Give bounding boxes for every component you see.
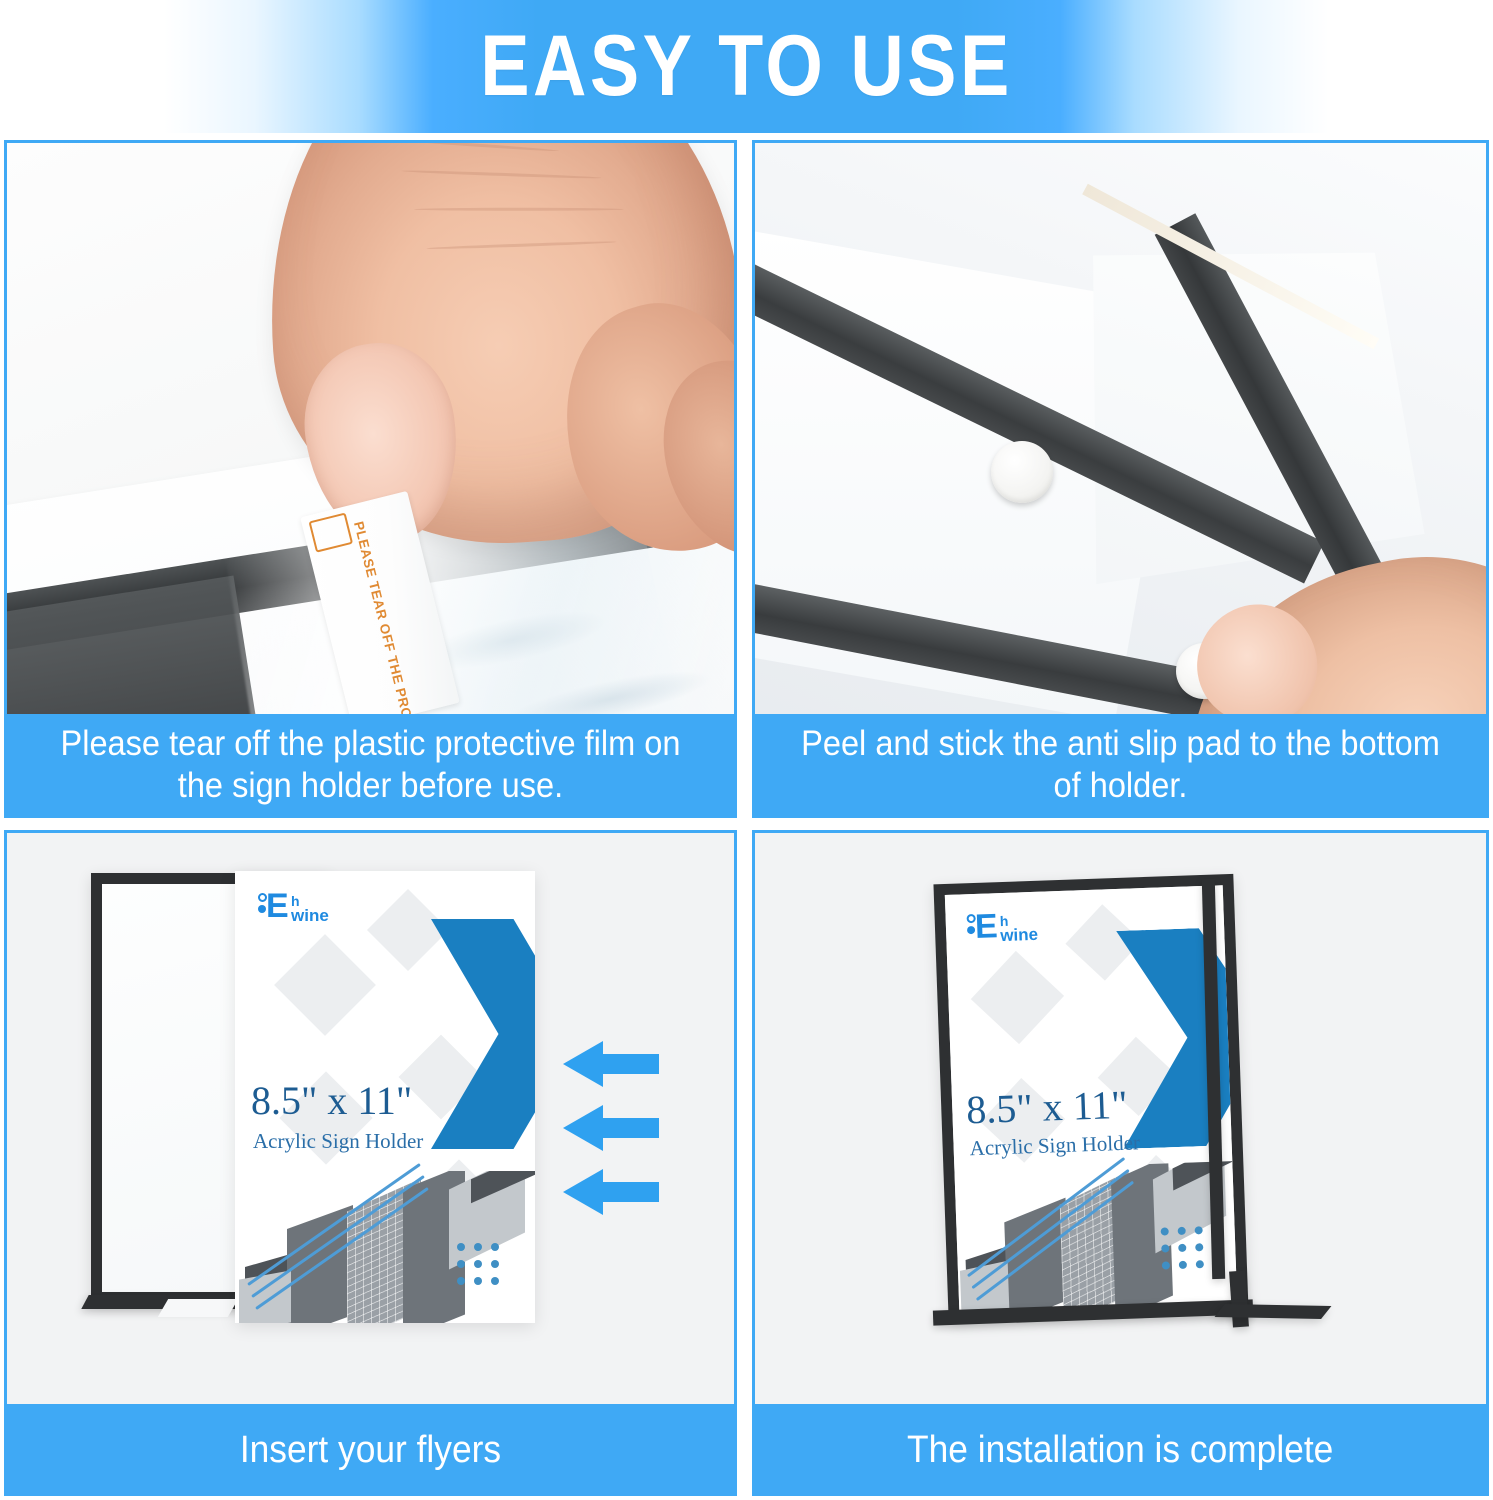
- flyer-size-text: 8.5" x 11": [251, 1077, 412, 1124]
- grid-dot: [1161, 1227, 1169, 1235]
- grid-dot: [474, 1277, 482, 1285]
- caption-step-3: Insert your flyers: [4, 1404, 737, 1496]
- logo-wordmark: h wine: [999, 912, 1038, 944]
- arrow-head-icon: [563, 1041, 603, 1087]
- grid-dot: [491, 1260, 499, 1268]
- panel-step-2: Peel and stick the anti slip pad to the …: [752, 140, 1489, 818]
- flyer-logo: E h wine: [257, 893, 329, 927]
- flyer-dot-grid: [457, 1243, 499, 1285]
- caption-step-1: Please tear off the plastic protective f…: [7, 714, 734, 815]
- flyer-subtitle: Acrylic Sign Holder: [253, 1129, 423, 1154]
- logo-mark-icon: E: [257, 893, 287, 927]
- grid-dot: [474, 1243, 482, 1251]
- skin-crease: [379, 143, 559, 152]
- arrow-shaft: [601, 1118, 659, 1138]
- grid-dot: [457, 1260, 465, 1268]
- empty-holder-foot: [158, 1299, 238, 1317]
- flyer-subtitle: Acrylic Sign Holder: [969, 1130, 1140, 1161]
- grid-dot: [491, 1243, 499, 1251]
- insert-arrow: [563, 1105, 659, 1151]
- watermark-diamond: [971, 951, 1064, 1044]
- logo-word-wine: wine: [1000, 926, 1038, 944]
- panel-step-1: PLEASE TEAR OFF THE PROTECTIVE FILM BEFO…: [4, 140, 737, 818]
- logo-letter-e: E: [266, 891, 289, 921]
- caption-step-3-text: Insert your flyers: [240, 1429, 501, 1472]
- panel-3-scene: E h wine 8.5" x 11" Acrylic Sign Holder: [7, 833, 734, 1493]
- grid-dot: [1162, 1261, 1170, 1269]
- grid-dot: [1161, 1244, 1169, 1252]
- page-title: EASY TO USE: [105, 0, 1389, 133]
- caption-step-4-text: The installation is complete: [907, 1429, 1333, 1472]
- grid-dot: [1178, 1244, 1186, 1252]
- film-tab-label: PLEASE TEAR OFF THE PROTECTIVE FILM BEFO…: [349, 520, 414, 709]
- flyer-sliding-in: E h wine 8.5" x 11" Acrylic Sign Holder: [235, 871, 535, 1323]
- grid-dot: [457, 1277, 465, 1285]
- grid-dot: [1195, 1243, 1203, 1251]
- logo-word-wine: wine: [291, 907, 329, 924]
- flyer-size-text: 8.5" x 11": [966, 1081, 1129, 1134]
- logo-drop-filled-icon: [967, 926, 975, 934]
- panel-step-4: E h wine 8.5" x 11" Acrylic Sign Holder: [752, 830, 1489, 1496]
- insert-arrow: [563, 1041, 659, 1087]
- film-tab-icon: [309, 512, 354, 552]
- caption-step-4: The installation is complete: [752, 1404, 1489, 1496]
- anti-slip-pad-placed: [991, 441, 1053, 503]
- logo-mark-icon: E: [966, 913, 997, 948]
- grid-dot: [1178, 1227, 1186, 1235]
- grid-dot: [474, 1260, 482, 1268]
- arrow-head-icon: [563, 1169, 603, 1215]
- arrow-shaft: [601, 1182, 659, 1202]
- grid-dot: [457, 1243, 465, 1251]
- insert-arrow: [563, 1169, 659, 1215]
- arrow-head-icon: [563, 1105, 603, 1151]
- skin-crease: [414, 208, 624, 211]
- flyer-logo: E h wine: [966, 912, 1039, 948]
- flyer-chevron: [431, 919, 535, 1149]
- skin-crease: [401, 169, 601, 179]
- caption-step-2-text: Peel and stick the anti slip pad to the …: [790, 723, 1451, 806]
- building: [239, 1270, 291, 1323]
- logo-letter-e: E: [974, 911, 998, 942]
- logo-drop-filled-icon: [258, 905, 266, 913]
- grid-dot: [1195, 1226, 1203, 1234]
- grid-dot: [1179, 1261, 1187, 1269]
- flyer-inserted: E h wine 8.5" x 11" Acrylic Sign Holder: [945, 885, 1237, 1310]
- caption-step-2: Peel and stick the anti slip pad to the …: [755, 714, 1486, 815]
- flyer-dot-grid: [1161, 1226, 1204, 1269]
- grid-dot: [1196, 1260, 1204, 1268]
- watermark-diamond: [367, 889, 449, 971]
- grid-dot: [491, 1277, 499, 1285]
- logo-wordmark: h wine: [291, 893, 329, 924]
- panel-step-3: E h wine 8.5" x 11" Acrylic Sign Holder: [4, 830, 737, 1496]
- holder-base-rear-foot: [1215, 1304, 1332, 1319]
- panel-4-scene: E h wine 8.5" x 11" Acrylic Sign Holder: [755, 833, 1486, 1493]
- arrow-shaft: [601, 1054, 659, 1074]
- skin-crease: [426, 240, 616, 250]
- building: [960, 1261, 1009, 1311]
- caption-step-1-text: Please tear off the plastic protective f…: [42, 723, 700, 806]
- watermark-diamond: [274, 934, 376, 1036]
